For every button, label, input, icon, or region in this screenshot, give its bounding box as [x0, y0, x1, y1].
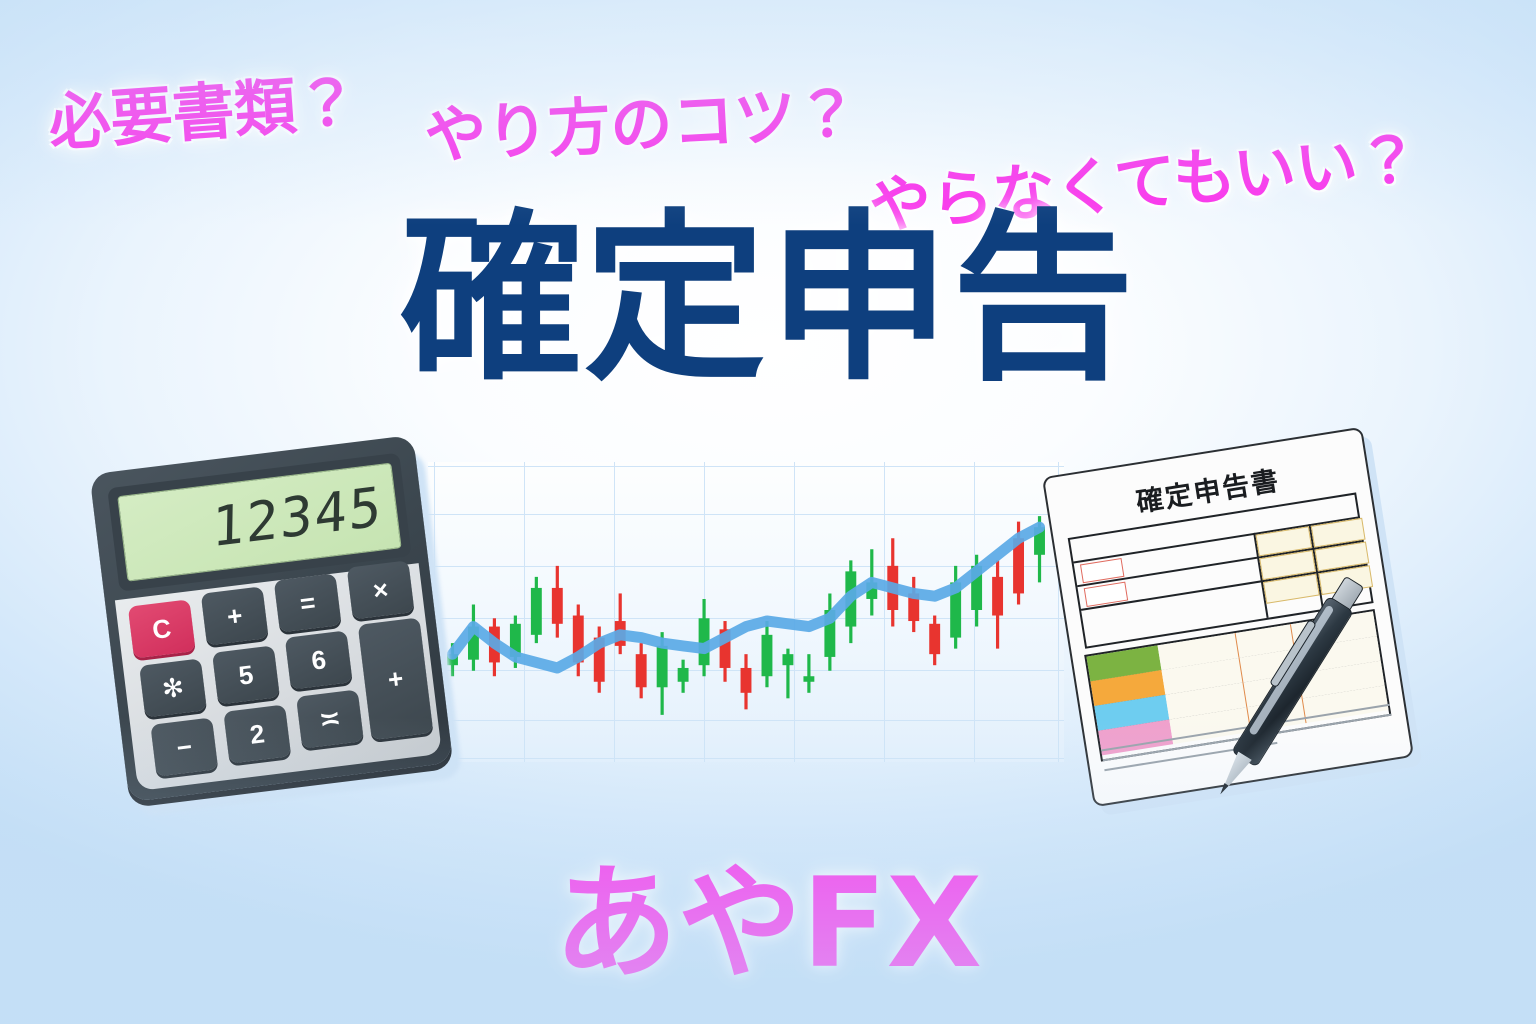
- keyword-how-to-tips: やり方のコツ？: [422, 63, 860, 176]
- calculator-keypad: C + = × ✻ 5 6 + − 2 ≍: [115, 563, 442, 791]
- calc-key-clear[interactable]: C: [128, 599, 196, 658]
- chart-plot: [428, 462, 1064, 762]
- page-title: 確定申告: [0, 208, 1536, 390]
- calc-key-6[interactable]: 6: [285, 630, 353, 689]
- calc-key-plus-large[interactable]: +: [358, 617, 434, 740]
- calc-key-approx[interactable]: ≍: [296, 689, 364, 748]
- calc-key-equals[interactable]: =: [274, 573, 342, 632]
- brand-name: あやFX: [0, 862, 1536, 986]
- calculator: 12345 C + = × ✻ 5 6 + − 2 ≍: [89, 432, 478, 832]
- calc-key-2[interactable]: 2: [223, 704, 291, 763]
- calc-key-multiply[interactable]: ×: [347, 560, 415, 619]
- calc-key-asterisk[interactable]: ✻: [139, 658, 207, 717]
- calc-key-minus[interactable]: −: [150, 717, 218, 776]
- keyword-necessary-documents: 必要書類？: [45, 51, 361, 162]
- calculator-display: 12345: [117, 463, 401, 582]
- calc-key-plus-top[interactable]: +: [201, 586, 269, 645]
- calculator-display-value: 12345: [212, 480, 384, 556]
- candlestick-chart: [428, 462, 1064, 762]
- poster-canvas: 12345 C + = × ✻ 5 6 + − 2 ≍ 確定申告書: [0, 0, 1536, 1024]
- calc-key-5[interactable]: 5: [212, 645, 280, 704]
- tax-form-group: 確定申告書: [1046, 440, 1446, 840]
- calculator-body: 12345 C + = × ✻ 5 6 + − 2 ≍: [89, 435, 453, 802]
- pen-nib: [1218, 783, 1229, 796]
